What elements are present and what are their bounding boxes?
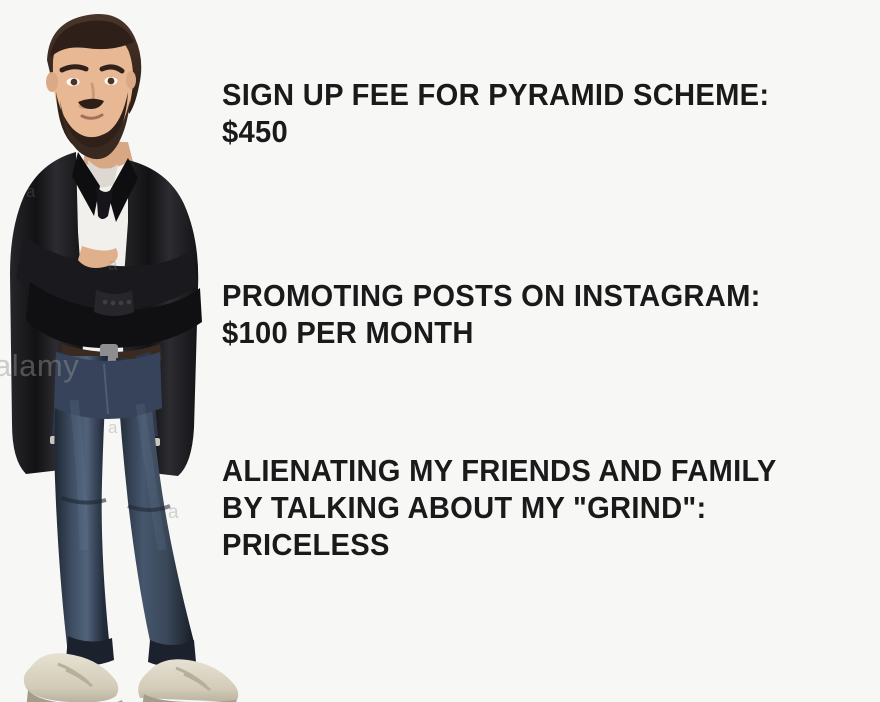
caption-line: PROMOTING POSTS ON INSTAGRAM:	[222, 277, 761, 314]
caption-line: SIGN UP FEE FOR PYRAMID SCHEME:	[222, 76, 769, 113]
caption-line: $100 PER MONTH	[222, 314, 761, 351]
caption-block-instagram-promo: PROMOTING POSTS ON INSTAGRAM: $100 PER M…	[222, 277, 761, 351]
caption-line: BY TALKING ABOUT MY "GRIND":	[222, 489, 777, 526]
caption-block-signup-fee: SIGN UP FEE FOR PYRAMID SCHEME: $450	[222, 76, 769, 150]
caption-line: ALIENATING MY FRIENDS AND FAMILY	[222, 452, 777, 489]
caption-line: $450	[222, 113, 769, 150]
caption-line: PRICELESS	[222, 526, 777, 563]
meme-image: a a alamy a a SIGN UP FEE FOR PYRAMID SC…	[0, 0, 880, 702]
caption-container: SIGN UP FEE FOR PYRAMID SCHEME: $450 PRO…	[222, 0, 880, 702]
caption-block-alienating-priceless: ALIENATING MY FRIENDS AND FAMILY BY TALK…	[222, 452, 777, 563]
person-photo	[0, 0, 260, 702]
